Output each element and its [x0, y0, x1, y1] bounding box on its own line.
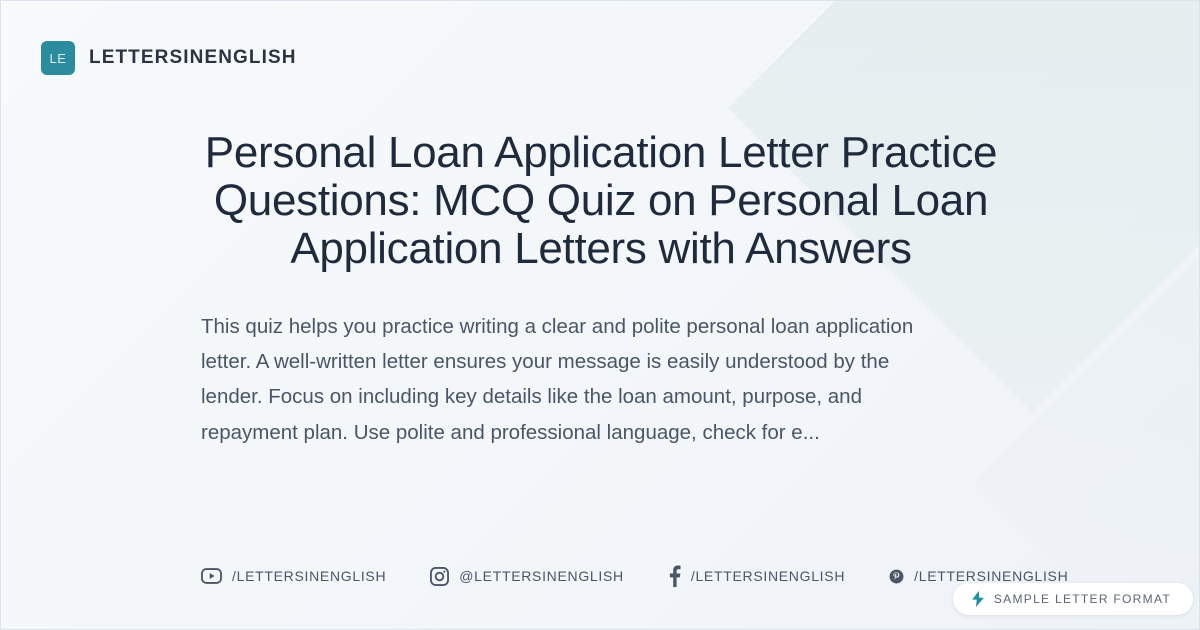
social-link-youtube[interactable]: /LETTERSINENGLISH	[201, 568, 386, 584]
social-label-youtube: /LETTERSINENGLISH	[232, 568, 386, 584]
social-links-row: /LETTERSINENGLISH @LETTERSINENGLISH /LET…	[201, 565, 1068, 587]
page-title: Personal Loan Application Letter Practic…	[201, 129, 1001, 273]
main-content: Personal Loan Application Letter Practic…	[201, 129, 1001, 450]
instagram-icon	[430, 567, 449, 586]
brand-header[interactable]: LE LETTERSINENGLISH	[41, 41, 297, 75]
status-badge-label: SAMPLE LETTER FORMAT	[994, 592, 1171, 606]
social-label-instagram: @LETTERSINENGLISH	[459, 568, 624, 584]
social-link-facebook[interactable]: /LETTERSINENGLISH	[668, 565, 845, 587]
brand-name: LETTERSINENGLISH	[89, 47, 297, 69]
social-share-card: LE LETTERSINENGLISH Personal Loan Applic…	[0, 0, 1200, 630]
facebook-icon	[668, 565, 681, 587]
youtube-icon	[201, 568, 222, 584]
social-link-instagram[interactable]: @LETTERSINENGLISH	[430, 567, 624, 586]
lightning-bolt-icon	[971, 591, 985, 607]
brand-logo-mark: LE	[41, 41, 75, 75]
social-label-facebook: /LETTERSINENGLISH	[691, 568, 845, 584]
pinterest-icon	[889, 569, 904, 584]
page-description: This quiz helps you practice writing a c…	[201, 309, 931, 450]
social-label-pinterest: /LETTERSINENGLISH	[914, 568, 1068, 584]
status-badge[interactable]: SAMPLE LETTER FORMAT	[953, 583, 1193, 615]
social-link-pinterest[interactable]: /LETTERSINENGLISH	[889, 568, 1068, 584]
